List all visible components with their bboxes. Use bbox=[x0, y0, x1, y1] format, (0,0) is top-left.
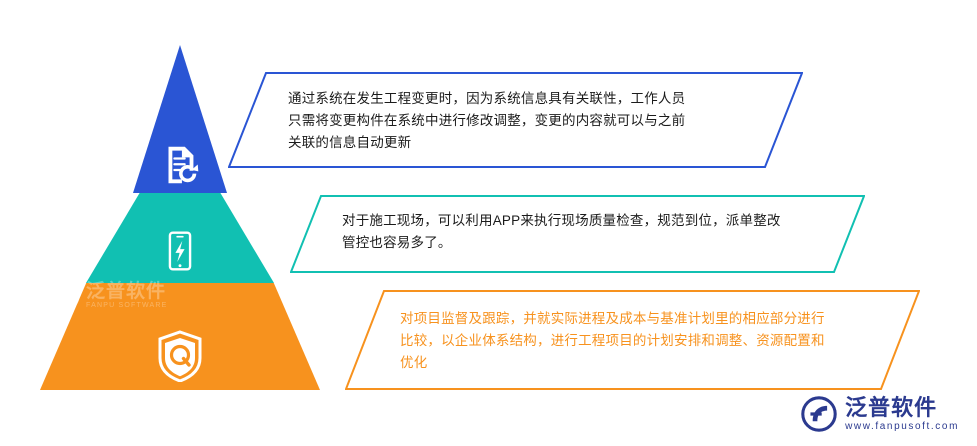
brand-logo-cn: 泛普软件 bbox=[845, 396, 959, 420]
callout-bottom-text: 对项目监督及跟踪，并就实际进程及成本与基准计划里的相应部分进行 比较，以企业体系… bbox=[400, 308, 895, 374]
brand-logo: 泛普软件 www.fanpusoft.com bbox=[801, 396, 959, 432]
brand-logo-url: www.fanpusoft.com bbox=[845, 421, 959, 432]
mobile-inspection-icon bbox=[152, 223, 208, 279]
brand-logo-icon bbox=[801, 396, 837, 432]
diagram-canvas: 通过系统在发生工程变更时，因为系统信息具有关联性，工作人员 只需将变更构件在系统… bbox=[0, 0, 977, 446]
shield-quality-icon bbox=[152, 325, 208, 387]
callout-middle: 对于施工现场，可以利用APP来执行现场质量检查，规范到位，派单整改 管控也容易多… bbox=[290, 195, 865, 273]
callout-top-text: 通过系统在发生工程变更时，因为系统信息具有关联性，工作人员 只需将变更构件在系统… bbox=[288, 88, 778, 154]
callout-middle-text: 对于施工现场，可以利用APP来执行现场质量检查，规范到位，派单整改 管控也容易多… bbox=[342, 210, 842, 254]
callout-top: 通过系统在发生工程变更时，因为系统信息具有关联性，工作人员 只需将变更构件在系统… bbox=[228, 72, 803, 168]
document-refresh-icon bbox=[152, 137, 208, 193]
callout-bottom: 对项目监督及跟踪，并就实际进程及成本与基准计划里的相应部分进行 比较，以企业体系… bbox=[345, 290, 920, 390]
